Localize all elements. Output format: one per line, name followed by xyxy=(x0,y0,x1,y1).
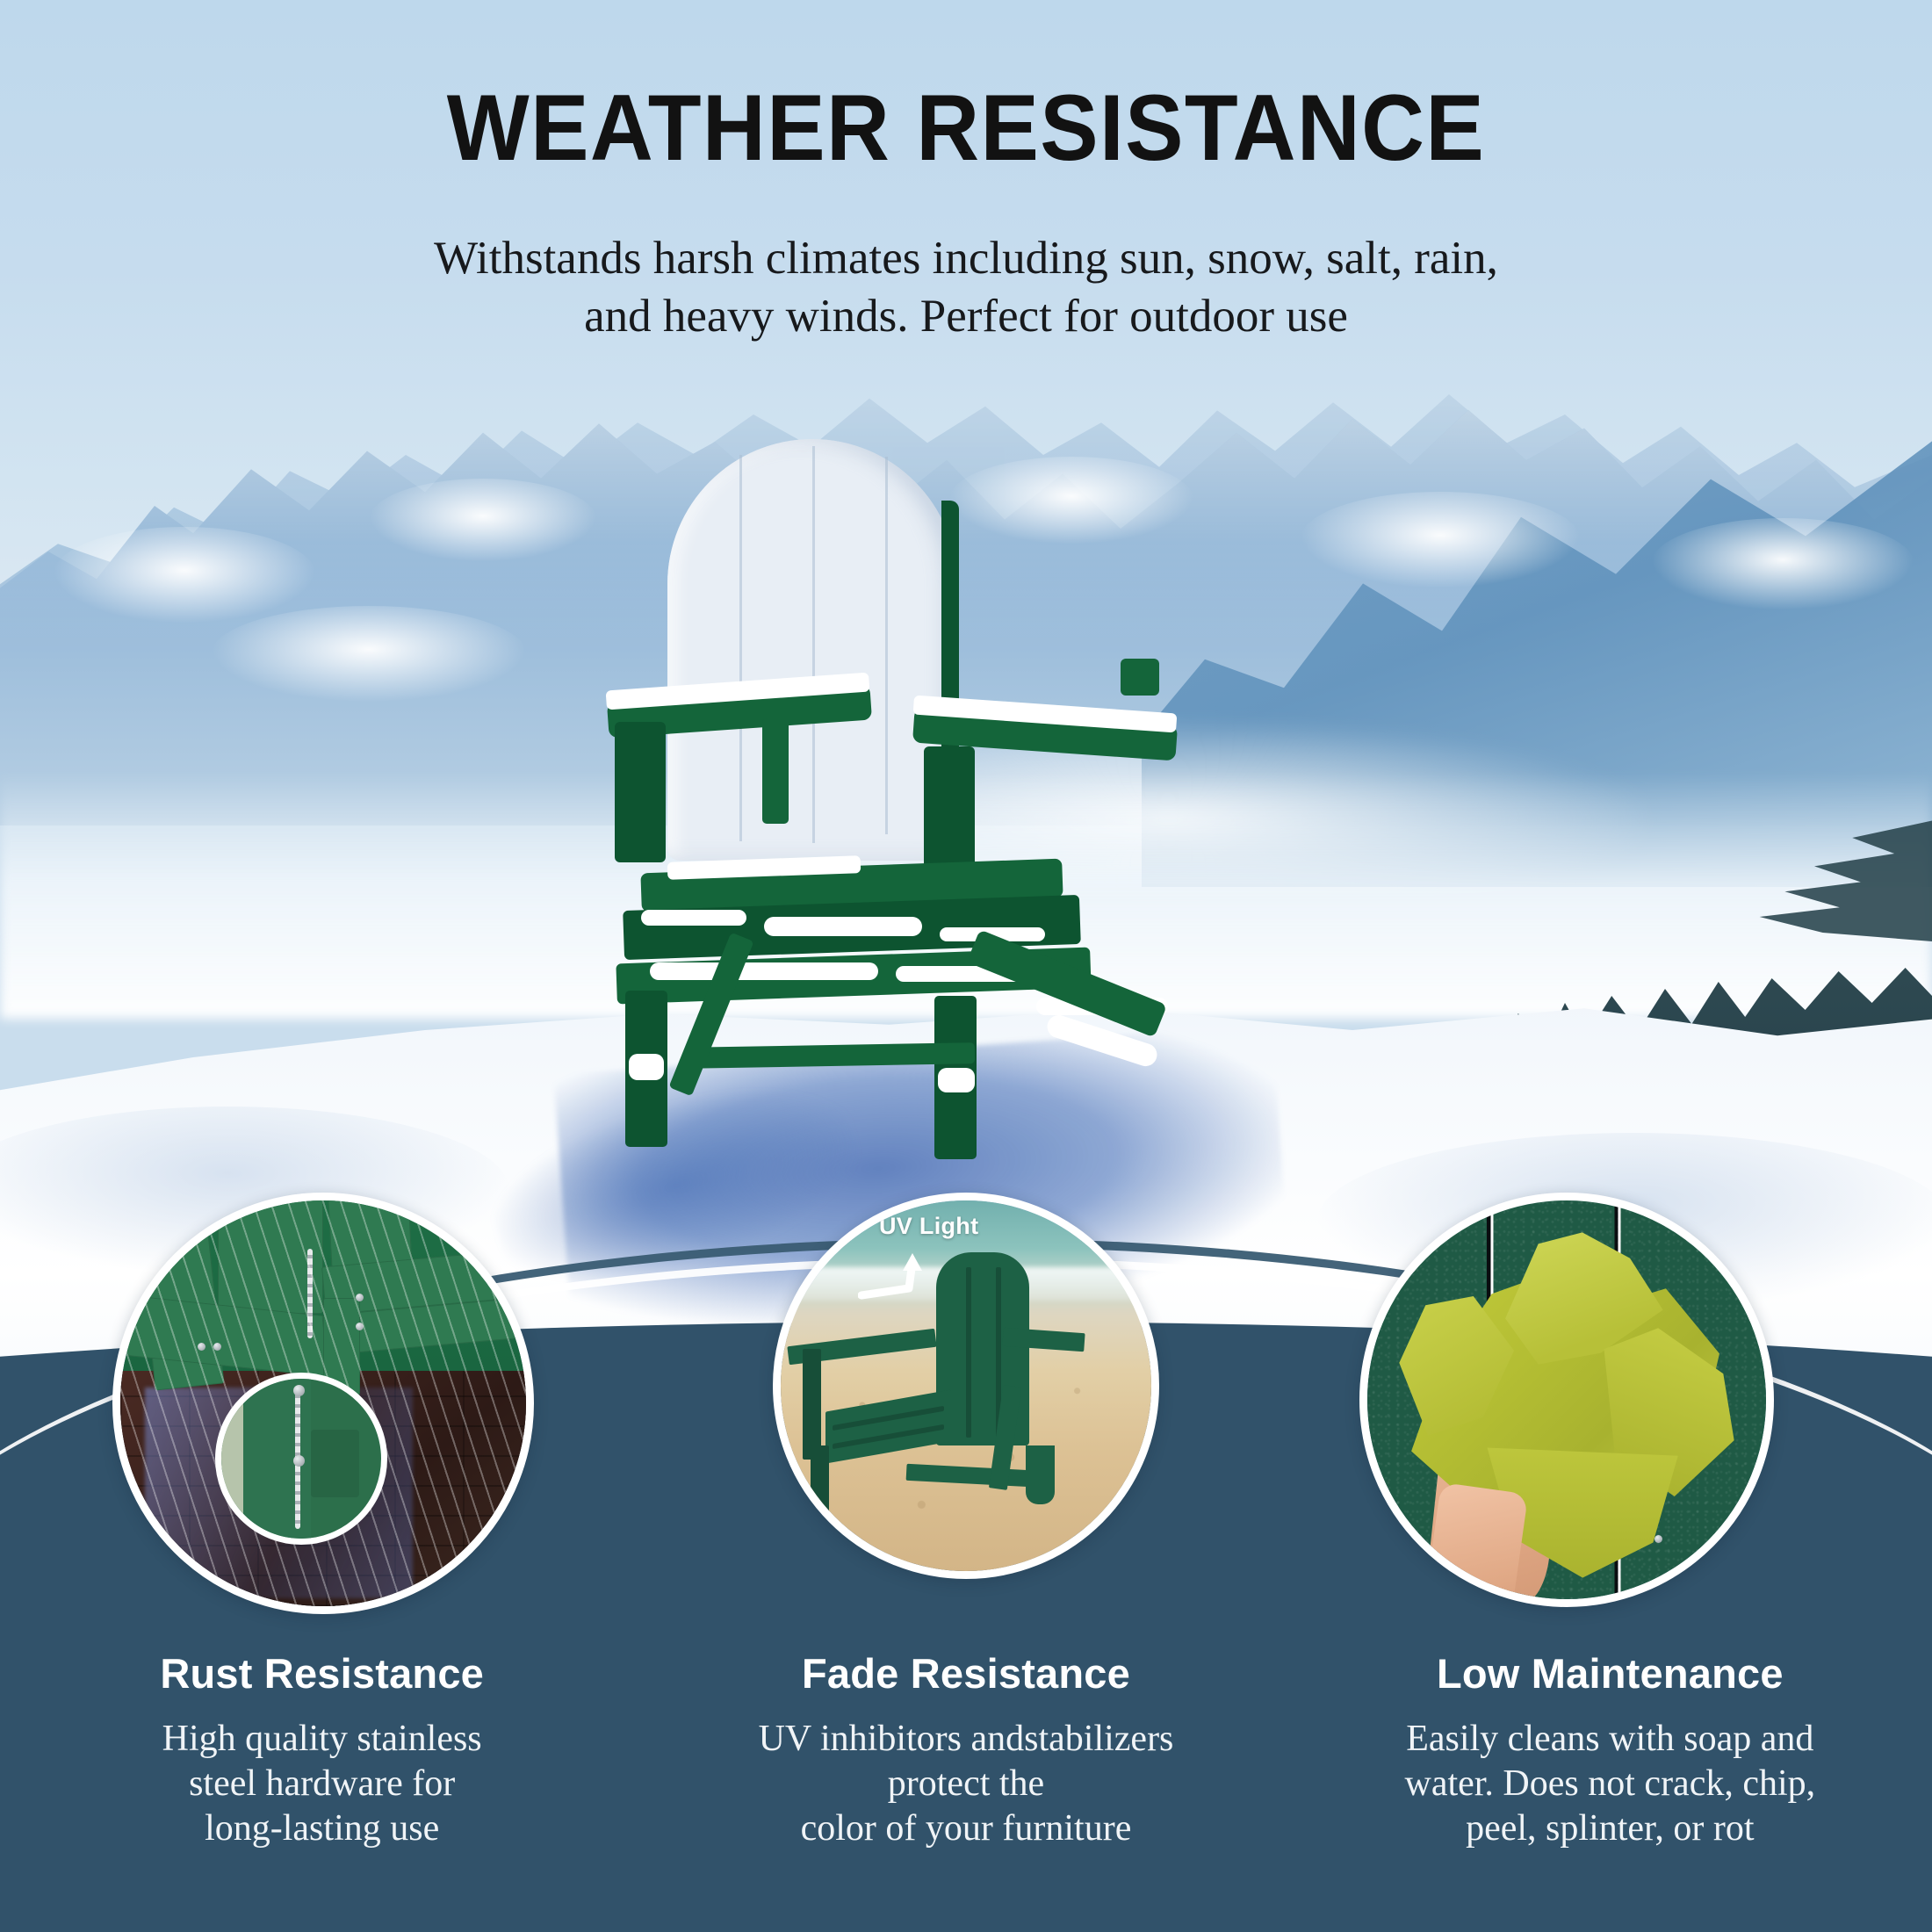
feature-image-low-maintenance xyxy=(1359,1193,1774,1607)
feature-description: High quality stainless steel hardware fo… xyxy=(23,1717,621,1852)
page-title: WEATHER RESISTANCE xyxy=(68,81,1864,175)
feature-image-rust-resistance xyxy=(112,1193,534,1614)
weather-resistance-infographic: UV Light WEATHER RESISTANCE xyxy=(0,0,1932,1932)
beach-chair-front-leg xyxy=(811,1445,829,1519)
chair-back-seam-1 xyxy=(739,455,742,841)
feature-list: Rust Resistance High quality stainless s… xyxy=(0,1649,1932,1852)
chair-leg-snow-2 xyxy=(938,1068,975,1092)
beach-chair-left-arm-post xyxy=(803,1349,821,1460)
feature-desc-line: Easily cleans with soap and xyxy=(1311,1717,1909,1762)
uv-light-label: UV Light xyxy=(879,1213,978,1240)
feature-desc-line: UV inhibitors andstabilizers xyxy=(667,1717,1265,1762)
feature-low-maintenance: Low Maintenance Easily cleans with soap … xyxy=(1288,1649,1932,1852)
chair-left-arm-brace xyxy=(762,718,789,824)
feature-fade-resistance: Fade Resistance UV inhibitors andstabili… xyxy=(644,1649,1287,1852)
chair-back-seam-2 xyxy=(812,446,815,843)
feature-desc-line: water. Does not crack, chip, xyxy=(1311,1762,1909,1806)
forearm xyxy=(1422,1482,1527,1607)
feature-rust-resistance: Rust Resistance High quality stainless s… xyxy=(0,1649,644,1852)
feature-desc-line: color of your furniture xyxy=(667,1806,1265,1851)
page-subtitle: Withstands harsh climates including sun,… xyxy=(281,230,1651,345)
feature-image-fade-resistance: UV Light xyxy=(773,1193,1159,1579)
chair-stretcher xyxy=(685,1042,975,1069)
feature-desc-line: protect the xyxy=(667,1762,1265,1806)
chair-snow-splatter-1 xyxy=(641,910,746,926)
feature-desc-line: steel hardware for xyxy=(23,1762,621,1806)
subtitle-line-2: and heavy winds. Perfect for outdoor use xyxy=(281,288,1651,346)
feature-desc-line: peel, splinter, or rot xyxy=(1311,1806,1909,1851)
feature-description: Easily cleans with soap and water. Does … xyxy=(1311,1717,1909,1852)
beach-chair-rear-foot xyxy=(1026,1445,1056,1505)
feature-desc-line: long-lasting use xyxy=(23,1806,621,1851)
chair-right-arm-post xyxy=(1121,659,1159,696)
beach-chair-back-seam-1 xyxy=(966,1267,971,1438)
low-maintenance-image-inner xyxy=(1367,1200,1766,1599)
chain-detail-inset xyxy=(215,1373,387,1545)
chair-snow-splatter-2 xyxy=(764,917,922,936)
feature-description: UV inhibitors andstabilizers protect the… xyxy=(667,1717,1265,1852)
hero-adirondack-chair xyxy=(632,439,1300,1107)
inset-background-light xyxy=(221,1401,243,1539)
fade-image-inner: UV Light xyxy=(781,1200,1151,1571)
chair-snow-splatter-3 xyxy=(650,962,878,980)
feature-title: Low Maintenance xyxy=(1311,1649,1909,1698)
beach-chair xyxy=(781,1200,1151,1571)
subtitle-line-1: Withstands harsh climates including sun,… xyxy=(281,230,1651,288)
feature-desc-line: High quality stainless xyxy=(23,1717,621,1762)
inset-chair-bracket xyxy=(311,1430,359,1496)
uv-light-arrow-icon xyxy=(858,1250,963,1311)
chair-left-arm-support xyxy=(615,722,666,862)
chair-leg-snow-1 xyxy=(629,1054,664,1080)
chair-back-seam-3 xyxy=(885,457,888,834)
feature-title: Rust Resistance xyxy=(23,1649,621,1698)
feature-title: Fade Resistance xyxy=(667,1649,1265,1698)
